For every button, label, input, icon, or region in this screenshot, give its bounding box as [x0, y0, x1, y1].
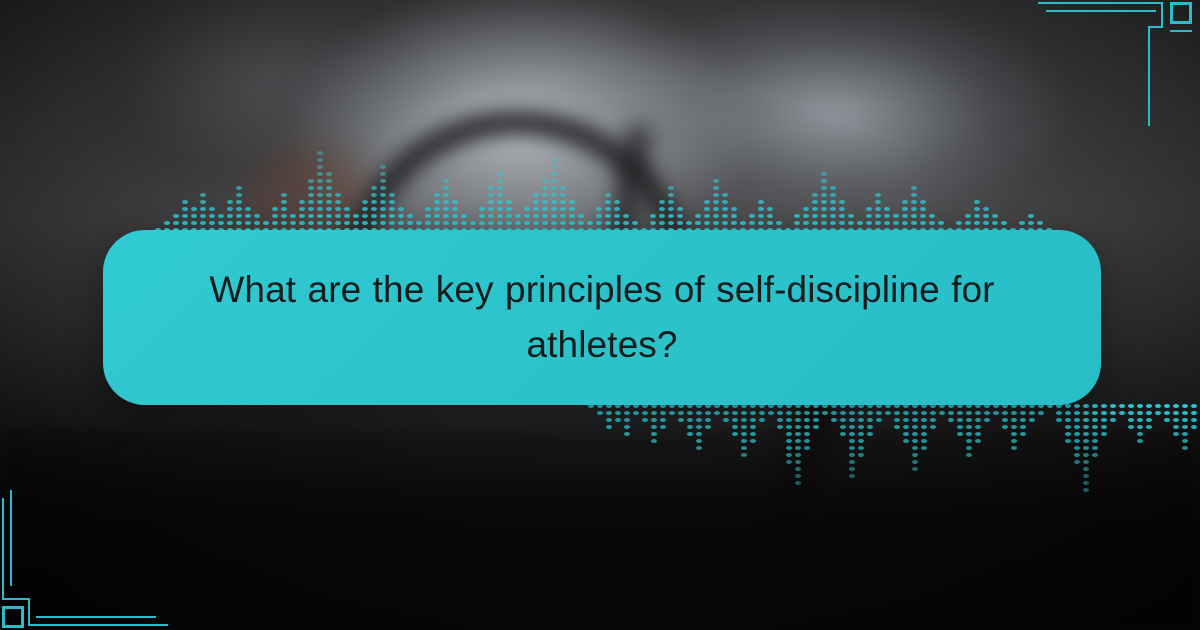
share-card-canvas: What are the key principles of self-disc… — [0, 0, 1200, 630]
question-card: What are the key principles of self-disc… — [103, 230, 1101, 405]
question-text: What are the key principles of self-disc… — [173, 263, 1031, 372]
